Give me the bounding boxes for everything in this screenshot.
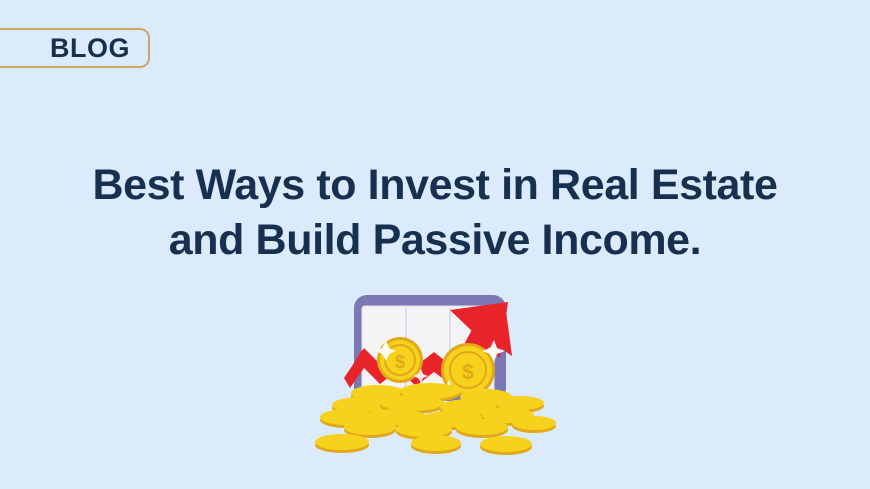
headline-line-2: and Build Passive Income.	[0, 213, 870, 268]
headline-line-1: Best Ways to Invest in Real Estate	[0, 158, 870, 213]
blog-banner: BLOG Best Ways to Invest in Real Estate …	[0, 0, 870, 489]
growth-chart-illustration: $ $	[300, 278, 580, 463]
page-title: Best Ways to Invest in Real Estate and B…	[0, 158, 870, 268]
blog-badge-label: BLOG	[50, 35, 130, 62]
blog-badge: BLOG	[0, 28, 150, 68]
coin-dollar-symbol: $	[395, 352, 405, 372]
coin-dollar-symbol: $	[462, 361, 474, 384]
scattered-coins	[315, 434, 532, 455]
coin-pile	[320, 383, 556, 440]
